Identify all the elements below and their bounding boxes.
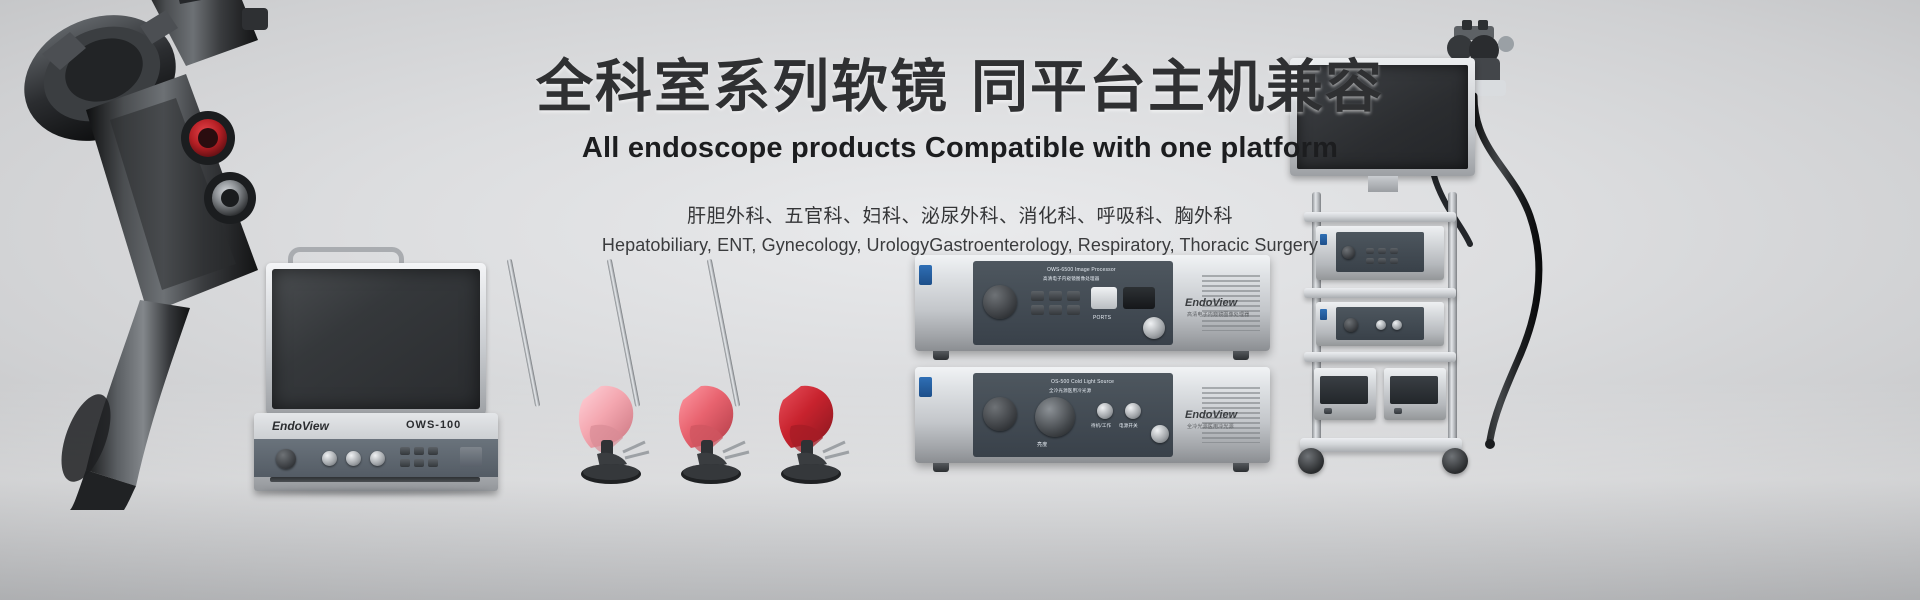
cart-unit-light-knob[interactable] — [1344, 318, 1358, 332]
console-shadow — [262, 489, 490, 494]
image-processor-port-b[interactable] — [1123, 287, 1155, 309]
console-button-large[interactable] — [460, 447, 482, 467]
cold-light-panel: OS-500 Cold Light Source 全冷光源医用冷光源 亮度 待机… — [973, 373, 1173, 457]
headline-part-1: 全科室系列软镜 — [536, 55, 949, 119]
cold-light-label-en: OS-500 Cold Light Source — [1051, 379, 1114, 385]
cold-light-brightness-knob[interactable] — [1035, 397, 1075, 437]
cold-light-foot-right — [1233, 463, 1249, 472]
console-button-1[interactable] — [400, 447, 410, 455]
console-button-3[interactable] — [428, 447, 438, 455]
console-button-2[interactable] — [414, 447, 424, 455]
image-processor-panel: OWS-6500 Image Processor 高清电子内窥镜图像处理器 PO… — [973, 261, 1173, 345]
cold-light-source-unit: OS-500 Cold Light Source 全冷光源医用冷光源 亮度 待机… — [915, 367, 1270, 463]
console-button-5[interactable] — [414, 459, 424, 467]
image-processor-btn-3[interactable] — [1067, 291, 1080, 301]
specialties-english: Hepatobiliary, ENT, Gynecology, UrologyG… — [0, 235, 1920, 256]
cold-light-fiber-port[interactable] — [983, 397, 1017, 431]
cold-light-foot-left — [933, 463, 949, 472]
image-processor-brand: EndoView — [1185, 297, 1237, 309]
console-button-4[interactable] — [400, 459, 410, 467]
image-processor-foot-left — [933, 351, 949, 360]
cart-unit-aux-right-btn[interactable] — [1394, 408, 1402, 414]
headline: 全科室系列软镜同平台主机兼容 — [0, 56, 1920, 120]
console-power-knob[interactable] — [276, 449, 296, 469]
cold-light-power-label: 电源开关 — [1119, 423, 1138, 429]
endoscope-insertion-tube — [70, 300, 190, 510]
cart-unit-processor-btn-4[interactable] — [1366, 258, 1374, 264]
specialties-chinese: 肝胆外科、五官科、妇科、泌尿外科、消化科、呼吸科、胸外科 — [0, 201, 1920, 228]
cart-wheel-right — [1442, 448, 1468, 474]
cart-unit-light-tab — [1320, 309, 1327, 320]
image-processor-unit: OWS-6500 Image Processor 高清电子内窥镜图像处理器 PO… — [915, 255, 1270, 351]
subheadline-english: All endoscope products Compatible with o… — [0, 132, 1920, 165]
image-processor-accent-tab — [919, 265, 932, 285]
image-processor-label-en: OWS-6500 Image Processor — [1047, 267, 1116, 273]
image-processor-btn-1[interactable] — [1031, 291, 1044, 301]
cold-light-aux-knob[interactable] — [1151, 425, 1169, 443]
console-knob-c[interactable] — [370, 451, 385, 466]
cart-unit-aux-left-btn[interactable] — [1324, 408, 1332, 414]
cart-unit-aux-right — [1384, 368, 1446, 420]
image-processor-power-knob[interactable] — [1143, 317, 1165, 339]
image-processor-port-a[interactable] — [1091, 287, 1117, 309]
image-processor-foot-right — [1233, 351, 1249, 360]
instrument-grip-3 — [779, 386, 833, 448]
image-processor-label-cn: 高清电子内窥镜图像处理器 — [1043, 276, 1099, 282]
console-brand-label: EndoView — [272, 419, 329, 433]
image-processor-btn-2[interactable] — [1049, 291, 1062, 301]
image-processor-face: OWS-6500 Image Processor 高清电子内窥镜图像处理器 PO… — [915, 255, 1270, 351]
console-model-label: OWS-100 — [406, 419, 461, 431]
console-knob-a[interactable] — [322, 451, 337, 466]
image-processor-btn-5[interactable] — [1049, 305, 1062, 315]
cart-unit-light-source — [1316, 302, 1444, 346]
cart-shelf-3 — [1304, 352, 1456, 362]
cart-unit-light-btn-2[interactable] — [1392, 320, 1402, 330]
cart-unit-aux-left-screen — [1320, 376, 1368, 404]
headline-part-2: 同平台主机兼容 — [971, 55, 1384, 119]
cold-light-brand: EndoView — [1185, 409, 1237, 421]
cold-light-source-face: OS-500 Cold Light Source 全冷光源医用冷光源 亮度 待机… — [915, 367, 1270, 463]
cold-light-power-button[interactable] — [1125, 403, 1141, 419]
console-button-6[interactable] — [428, 459, 438, 467]
banner-text-block: 全科室系列软镜同平台主机兼容 All endoscope products Co… — [0, 56, 1920, 256]
cart-wheel-left — [1298, 448, 1324, 474]
cart-unit-light-btn-1[interactable] — [1376, 320, 1386, 330]
image-processor-btn-4[interactable] — [1031, 305, 1044, 315]
cold-light-knob-label: 亮度 — [1037, 441, 1047, 448]
image-processor-main-knob[interactable] — [983, 285, 1017, 319]
monitor-console-unit: EndoView OWS-100 — [240, 245, 500, 495]
cart-unit-aux-right-screen — [1390, 376, 1438, 404]
image-processor-btn-6[interactable] — [1067, 305, 1080, 315]
laparoscopic-grasper-3 — [705, 258, 865, 488]
console-vent-slot — [270, 477, 480, 482]
cart-unit-aux-left — [1314, 368, 1376, 420]
product-banner: EndoView OWS-100 — [0, 0, 1920, 600]
cold-light-standby-label: 待机/工作 — [1091, 423, 1111, 429]
endoscope-connector — [51, 388, 120, 488]
cold-light-accent-tab — [919, 377, 932, 397]
cold-light-label-cn: 全冷光源医用冷光源 — [1049, 388, 1091, 394]
cold-light-standby-button[interactable] — [1097, 403, 1113, 419]
console-knob-b[interactable] — [346, 451, 361, 466]
monitor-screen — [272, 269, 480, 409]
cart-unit-processor-btn-5[interactable] — [1378, 258, 1386, 264]
scope-distal-tip — [1485, 439, 1495, 449]
monitor-bezel — [266, 263, 486, 415]
cart-shelf-2 — [1304, 288, 1456, 298]
cold-light-brand-sub: 全冷光源医用冷光源 — [1187, 423, 1234, 430]
image-processor-port-label: PORTS — [1093, 315, 1111, 321]
console-stack: OWS-6500 Image Processor 高清电子内窥镜图像处理器 PO… — [915, 255, 1275, 490]
console-base: EndoView OWS-100 — [254, 413, 498, 491]
cart-base-platform — [1300, 438, 1462, 452]
cart-unit-processor-btn-6[interactable] — [1390, 258, 1398, 264]
image-processor-brand-sub: 高清电子内窥镜图像处理器 — [1187, 311, 1249, 318]
